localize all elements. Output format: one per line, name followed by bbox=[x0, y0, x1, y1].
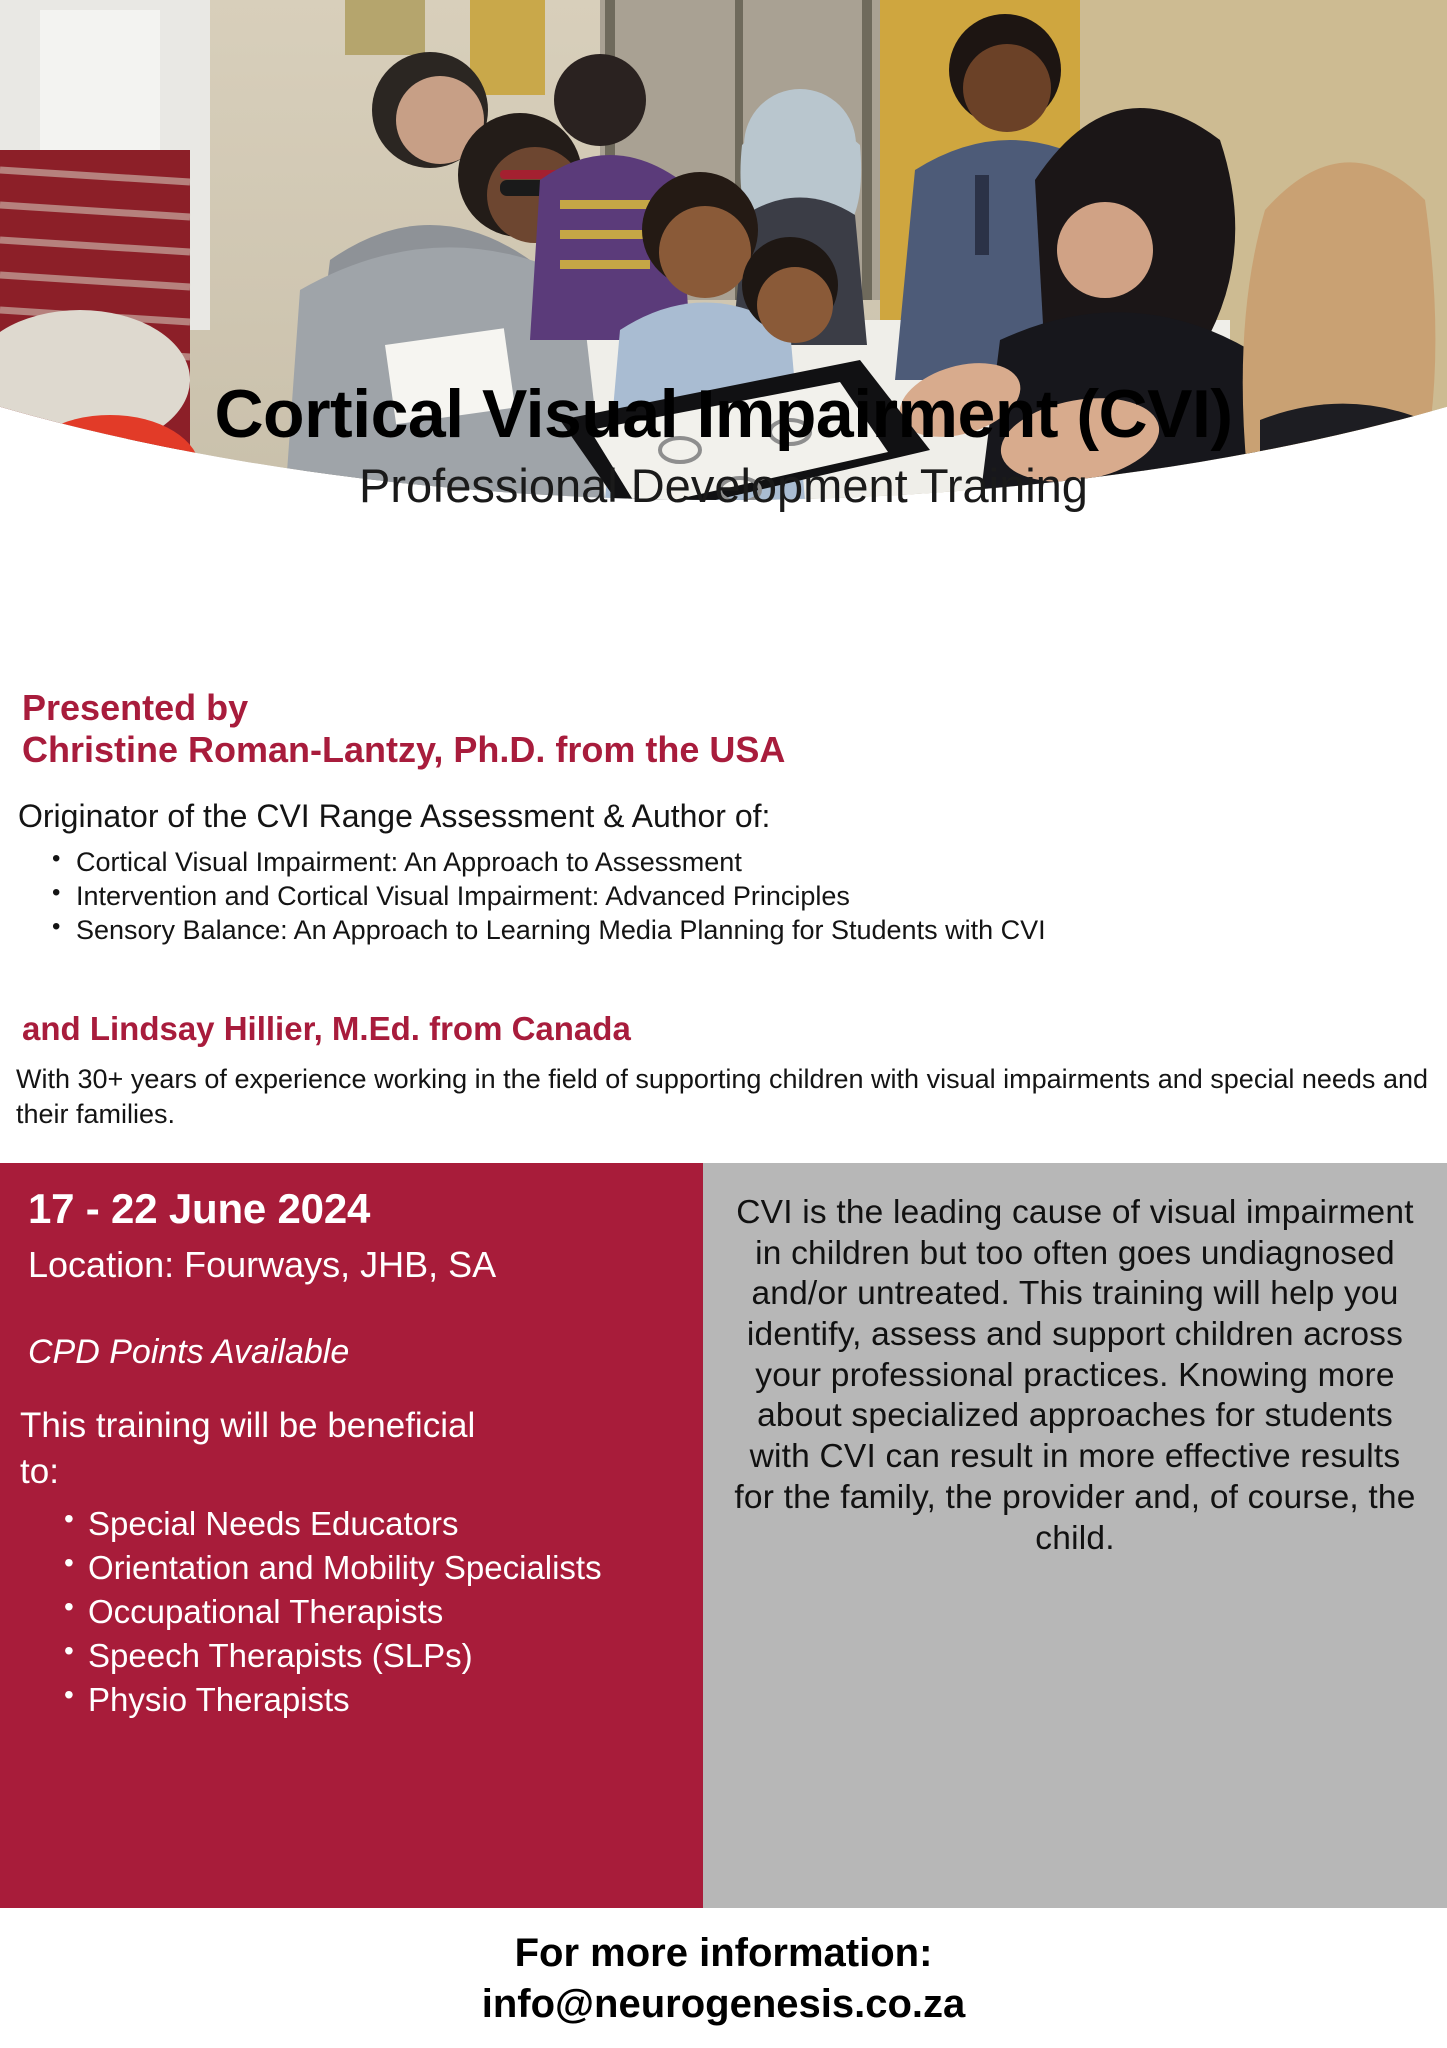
footer-email[interactable]: info@neurogenesis.co.za bbox=[0, 1979, 1447, 2030]
list-item: Speech Therapists (SLPs) bbox=[70, 1635, 610, 1678]
footer-contact: For more information: info@neurogenesis.… bbox=[0, 1928, 1447, 2030]
list-item: Cortical Visual Impairment: An Approach … bbox=[60, 845, 1447, 879]
list-item: Special Needs Educators bbox=[70, 1503, 610, 1546]
presenter-name: Christine Roman-Lantzy, Ph.D. from the U… bbox=[22, 730, 785, 770]
event-date: 17 - 22 June 2024 bbox=[28, 1185, 370, 1233]
list-item: Orientation and Mobility Specialists bbox=[70, 1547, 610, 1590]
event-location: Location: Fourways, JHB, SA bbox=[28, 1244, 496, 1286]
book-list: Cortical Visual Impairment: An Approach … bbox=[18, 845, 1447, 947]
page-title: Cortical Visual Impairment (CVI) bbox=[0, 380, 1447, 448]
list-item: Occupational Therapists bbox=[70, 1591, 610, 1634]
originator-line: Originator of the CVI Range Assessment &… bbox=[18, 798, 770, 835]
list-item: Sensory Balance: An Approach to Learning… bbox=[60, 913, 1447, 947]
page-subtitle: Professional Development Training bbox=[0, 462, 1447, 509]
audience-list: Special Needs Educators Orientation and … bbox=[36, 1503, 610, 1722]
second-presenter-name: and Lindsay Hillier, M.Ed. from Canada bbox=[22, 1010, 631, 1048]
presenter-experience: With 30+ years of experience working in … bbox=[16, 1062, 1428, 1131]
poster-root: Cortical Visual Impairment (CVI) Profess… bbox=[0, 0, 1447, 2048]
cvi-info-text: CVI is the leading cause of visual impai… bbox=[729, 1193, 1421, 1559]
cpd-points-note: CPD Points Available bbox=[28, 1333, 349, 1372]
list-item: Physio Therapists bbox=[70, 1679, 610, 1722]
footer-heading: For more information: bbox=[0, 1928, 1447, 1979]
presented-by-label: Presented by bbox=[22, 688, 248, 728]
audience-heading: This training will be beneficial to: bbox=[20, 1403, 490, 1494]
list-item: Intervention and Cortical Visual Impairm… bbox=[60, 879, 1447, 913]
cvi-info-panel: CVI is the leading cause of visual impai… bbox=[703, 1163, 1447, 1908]
event-details-panel: 17 - 22 June 2024 Location: Fourways, JH… bbox=[0, 1163, 703, 1908]
